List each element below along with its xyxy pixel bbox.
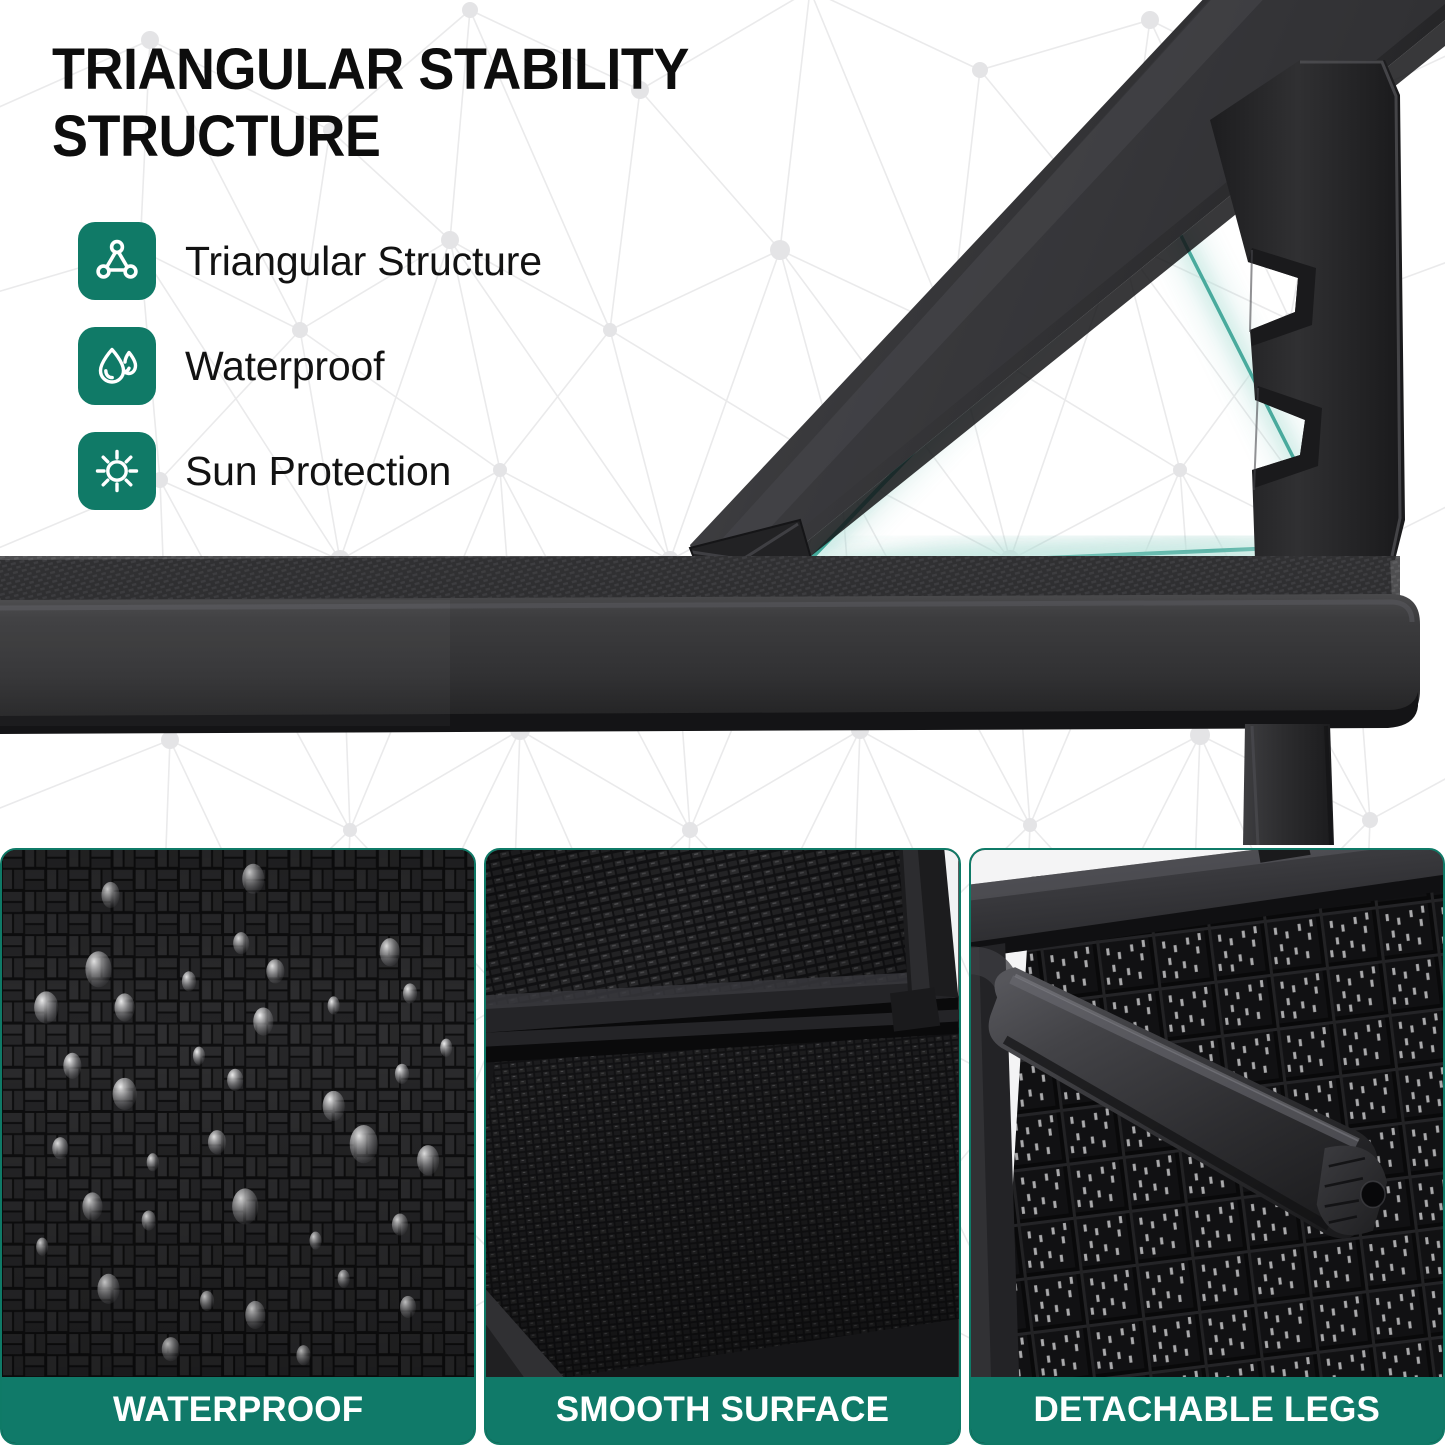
page-title-line-2: STRUCTURE xyxy=(52,103,833,170)
tile-caption: SMOOTH SURFACE xyxy=(486,1377,958,1443)
feature-list: Triangular Structure Waterproof xyxy=(78,222,542,537)
feature-item-triangular-structure: Triangular Structure xyxy=(78,222,542,300)
tile-caption: DETACHABLE LEGS xyxy=(971,1377,1443,1443)
infographic-canvas: TRIANGULAR STABILITY STRUCTURE Triangula… xyxy=(0,0,1445,1445)
ratchet-adjustment-bar xyxy=(1210,60,1405,575)
tile-detachable-legs: DETACHABLE LEGS xyxy=(969,848,1445,1445)
feature-label: Triangular Structure xyxy=(185,238,542,285)
feature-item-waterproof: Waterproof xyxy=(78,327,542,405)
tile-waterproof: WATERPROOF xyxy=(0,848,476,1445)
feature-label: Waterproof xyxy=(185,343,384,390)
tile-smooth-surface: SMOOTH SURFACE xyxy=(484,848,960,1445)
rattan-weave-with-water-droplets-photo xyxy=(2,850,474,1377)
chaise-leg xyxy=(1243,724,1334,845)
water-droplets-icon xyxy=(78,327,156,405)
seat-side-rail xyxy=(0,552,1420,734)
feature-item-sun-protection: Sun Protection xyxy=(78,432,542,510)
tile-caption: WATERPROOF xyxy=(2,1377,474,1443)
feature-label: Sun Protection xyxy=(185,448,451,495)
page-title: TRIANGULAR STABILITY STRUCTURE xyxy=(52,36,833,171)
sun-icon xyxy=(78,432,156,510)
removable-leg-underframe-photo xyxy=(971,850,1443,1377)
page-title-line-1: TRIANGULAR STABILITY xyxy=(52,36,833,103)
triangle-nodes-icon xyxy=(78,222,156,300)
feature-tiles: WATERPROOF xyxy=(0,848,1445,1445)
reclined-backrest-and-seat-weave-photo xyxy=(486,850,958,1377)
